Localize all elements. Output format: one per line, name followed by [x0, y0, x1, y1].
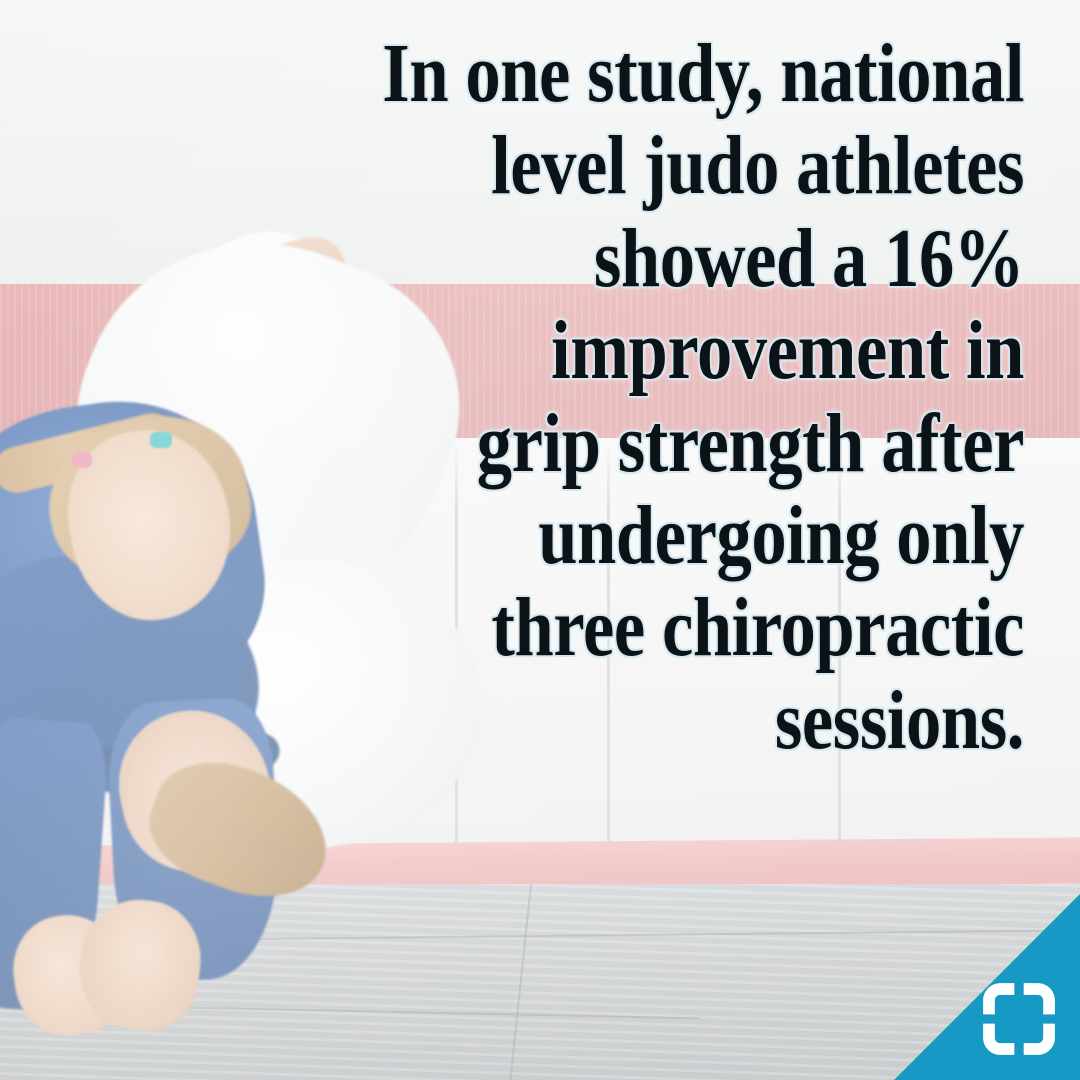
- quote-line: showed a 16%: [360, 213, 1024, 305]
- hair-tie-pink-icon: [72, 452, 92, 468]
- fact-quote-text: In one study, national level judo athlet…: [360, 28, 1024, 767]
- quote-line: improvement in: [360, 305, 1024, 397]
- quote-line: grip strength after: [360, 398, 1024, 490]
- fact-card: In one study, national level judo athlet…: [0, 0, 1080, 1080]
- hair-tie-teal-icon: [150, 432, 172, 448]
- quote-line: level judo athletes: [360, 120, 1024, 212]
- quote-line: In one study, national: [360, 28, 1024, 120]
- bracket-frame-icon: [980, 980, 1058, 1058]
- quote-line: undergoing only: [360, 490, 1024, 582]
- quote-line: sessions.: [360, 675, 1024, 767]
- quote-line: three chiropractic: [360, 582, 1024, 674]
- logo-badge: [894, 894, 1080, 1080]
